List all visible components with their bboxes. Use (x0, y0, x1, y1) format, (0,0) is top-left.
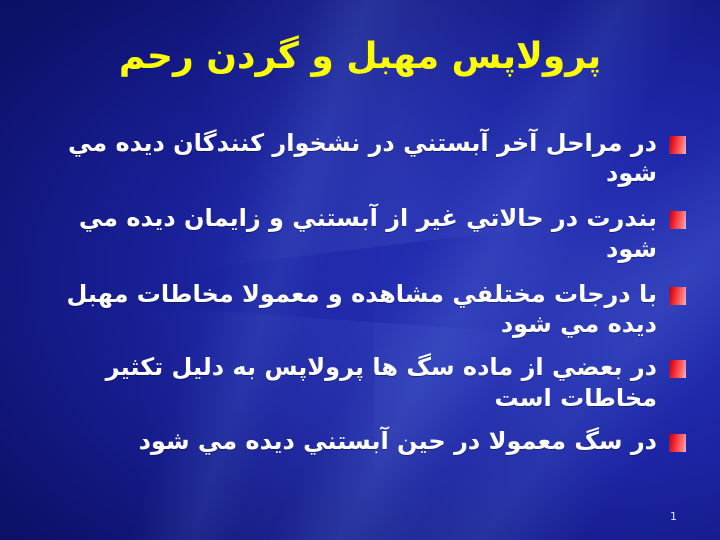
bullet-text: بندرت در حالاتي غير از آبستني و زايمان د… (34, 203, 657, 263)
red-square-bullet-icon (669, 136, 686, 154)
bullet-text: در مراحل آخر آبستني در نشخوار کنندگان دي… (34, 128, 657, 188)
list-item: در مراحل آخر آبستني در نشخوار کنندگان دي… (34, 128, 686, 188)
red-square-bullet-icon (669, 211, 686, 229)
red-square-bullet-icon (669, 434, 686, 452)
list-item: در سگ معمولا در حين آبستني ديده مي شود (34, 426, 686, 456)
bullet-text: در سگ معمولا در حين آبستني ديده مي شود (34, 426, 657, 456)
slide-number: 1 (670, 510, 677, 523)
presentation-slide: پرولاپس مهبل و گردن رحم در مراحل آخر آبس… (0, 0, 720, 540)
bullet-text: در بعضي از ماده سگ ها پرولاپس به دليل تک… (34, 352, 657, 412)
red-square-bullet-icon (669, 287, 686, 305)
slide-bullet-list: در مراحل آخر آبستني در نشخوار کنندگان دي… (34, 128, 686, 469)
red-square-bullet-icon (669, 360, 686, 378)
bullet-text: با درجات مختلفي مشاهده و معمولا مخاطات م… (34, 279, 657, 339)
list-item: بندرت در حالاتي غير از آبستني و زايمان د… (34, 203, 686, 263)
list-item: با درجات مختلفي مشاهده و معمولا مخاطات م… (34, 279, 686, 339)
list-item: در بعضي از ماده سگ ها پرولاپس به دليل تک… (34, 352, 686, 412)
slide-title: پرولاپس مهبل و گردن رحم (0, 36, 720, 78)
